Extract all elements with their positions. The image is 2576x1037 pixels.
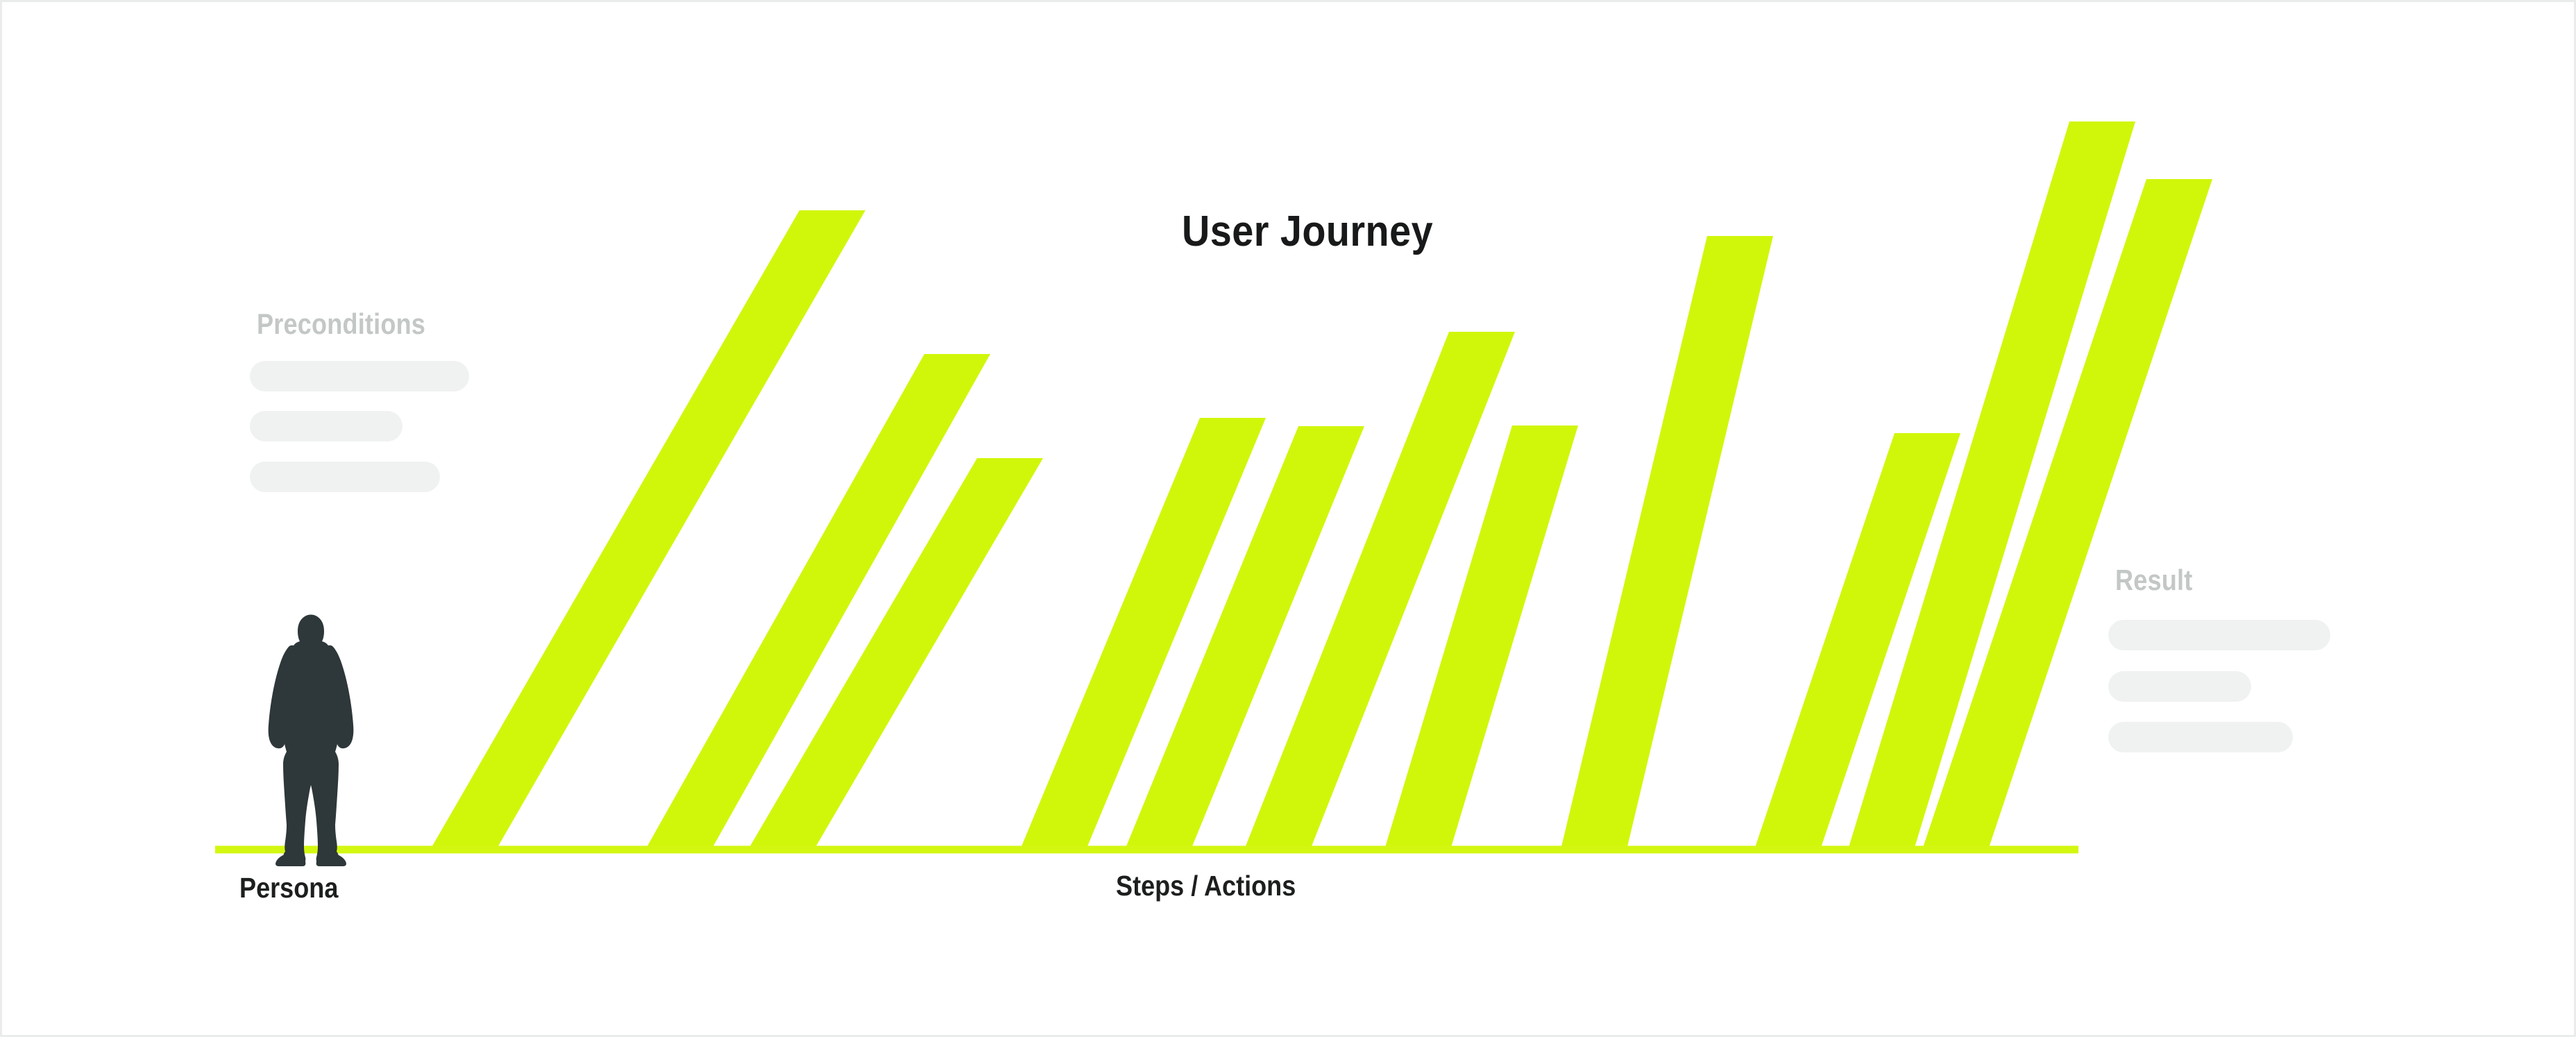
preconditions-placeholder-row xyxy=(250,361,469,391)
preconditions-placeholder-row xyxy=(250,462,440,492)
persona-label: Persona xyxy=(239,872,338,904)
user-journey-canvas: User Journey Preconditions Result Person… xyxy=(0,0,2576,1037)
journey-bar xyxy=(430,210,865,850)
result-placeholder-row xyxy=(2108,671,2251,702)
journey-bar xyxy=(1561,236,1773,850)
result-placeholder-row xyxy=(2108,620,2330,650)
result-placeholder-row xyxy=(2108,722,2293,752)
page-title: User Journey xyxy=(1182,207,1433,256)
preconditions-placeholder-row xyxy=(250,411,402,441)
steps-actions-label: Steps / Actions xyxy=(1116,870,1296,902)
preconditions-heading: Preconditions xyxy=(257,307,425,341)
result-heading: Result xyxy=(2115,564,2192,597)
person-silhouette-icon xyxy=(262,614,359,867)
